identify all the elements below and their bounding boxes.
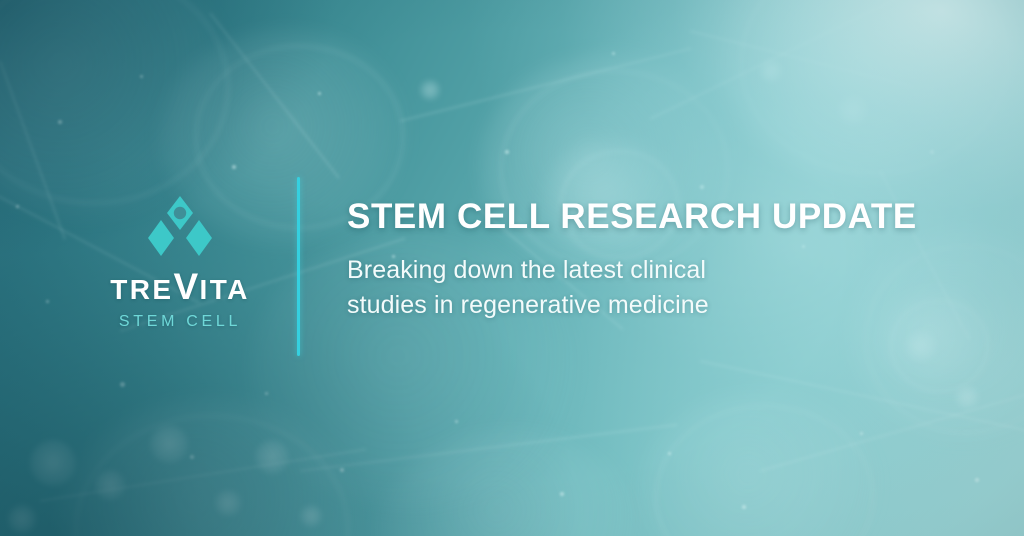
banner-content: treVita STEM CELL STEM CELL RESEARCH UPD… (0, 0, 1024, 536)
brand-tagline: STEM CELL (119, 314, 241, 330)
wordmark-capital: V (173, 266, 199, 307)
wordmark-suffix: ita (200, 274, 250, 305)
page-subtitle: Breaking down the latest clinical studie… (347, 253, 777, 324)
vertical-divider (297, 177, 300, 356)
brand-logo: treVita STEM CELL (72, 196, 288, 330)
trevita-diamond-logo-icon (143, 196, 217, 258)
headline-block: STEM CELL RESEARCH UPDATE Breaking down … (347, 198, 967, 324)
stem-cell-research-banner: treVita STEM CELL STEM CELL RESEARCH UPD… (0, 0, 1024, 536)
wordmark-prefix: tre (110, 274, 173, 305)
page-title: STEM CELL RESEARCH UPDATE (347, 198, 967, 237)
brand-wordmark: treVita (110, 268, 250, 305)
